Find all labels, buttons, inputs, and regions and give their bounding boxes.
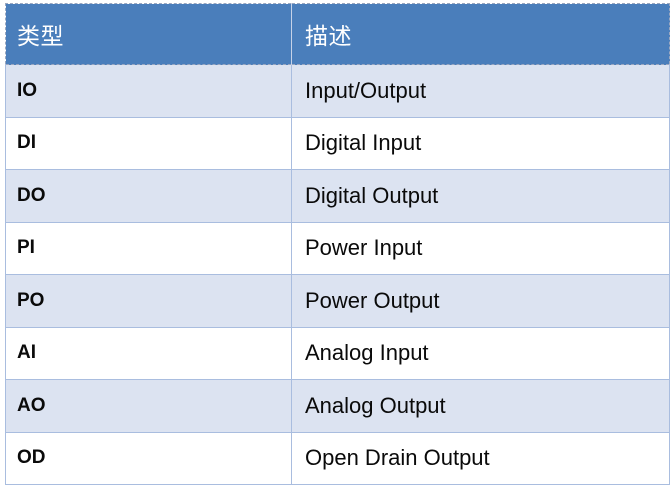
cell-type: AI <box>6 327 292 380</box>
cell-type: PI <box>6 222 292 275</box>
cell-description: Digital Input <box>292 117 670 170</box>
cell-description: Analog Output <box>292 380 670 433</box>
cell-type: DO <box>6 170 292 223</box>
table-row: IO Input/Output <box>6 65 670 118</box>
table-row: AO Analog Output <box>6 380 670 433</box>
cell-type: PO <box>6 275 292 328</box>
table-row: AI Analog Input <box>6 327 670 380</box>
table-row: DI Digital Input <box>6 117 670 170</box>
pin-type-table: 类型 描述 IO Input/Output DI Digital Input D… <box>5 3 670 485</box>
cell-description: Input/Output <box>292 65 670 118</box>
cell-type: AO <box>6 380 292 433</box>
table-body: IO Input/Output DI Digital Input DO Digi… <box>6 65 670 485</box>
column-header-type: 类型 <box>6 4 292 65</box>
pin-type-table-container: 类型 描述 IO Input/Output DI Digital Input D… <box>5 3 669 484</box>
cell-type: DI <box>6 117 292 170</box>
table-row: PO Power Output <box>6 275 670 328</box>
table-header-row: 类型 描述 <box>6 4 670 65</box>
table-row: OD Open Drain Output <box>6 432 670 485</box>
cell-type: OD <box>6 432 292 485</box>
cell-description: Analog Input <box>292 327 670 380</box>
table-header: 类型 描述 <box>6 4 670 65</box>
cell-description: Power Output <box>292 275 670 328</box>
column-header-description: 描述 <box>292 4 670 65</box>
cell-description: Power Input <box>292 222 670 275</box>
cell-type: IO <box>6 65 292 118</box>
table-row: DO Digital Output <box>6 170 670 223</box>
cell-description: Open Drain Output <box>292 432 670 485</box>
cell-description: Digital Output <box>292 170 670 223</box>
table-row: PI Power Input <box>6 222 670 275</box>
